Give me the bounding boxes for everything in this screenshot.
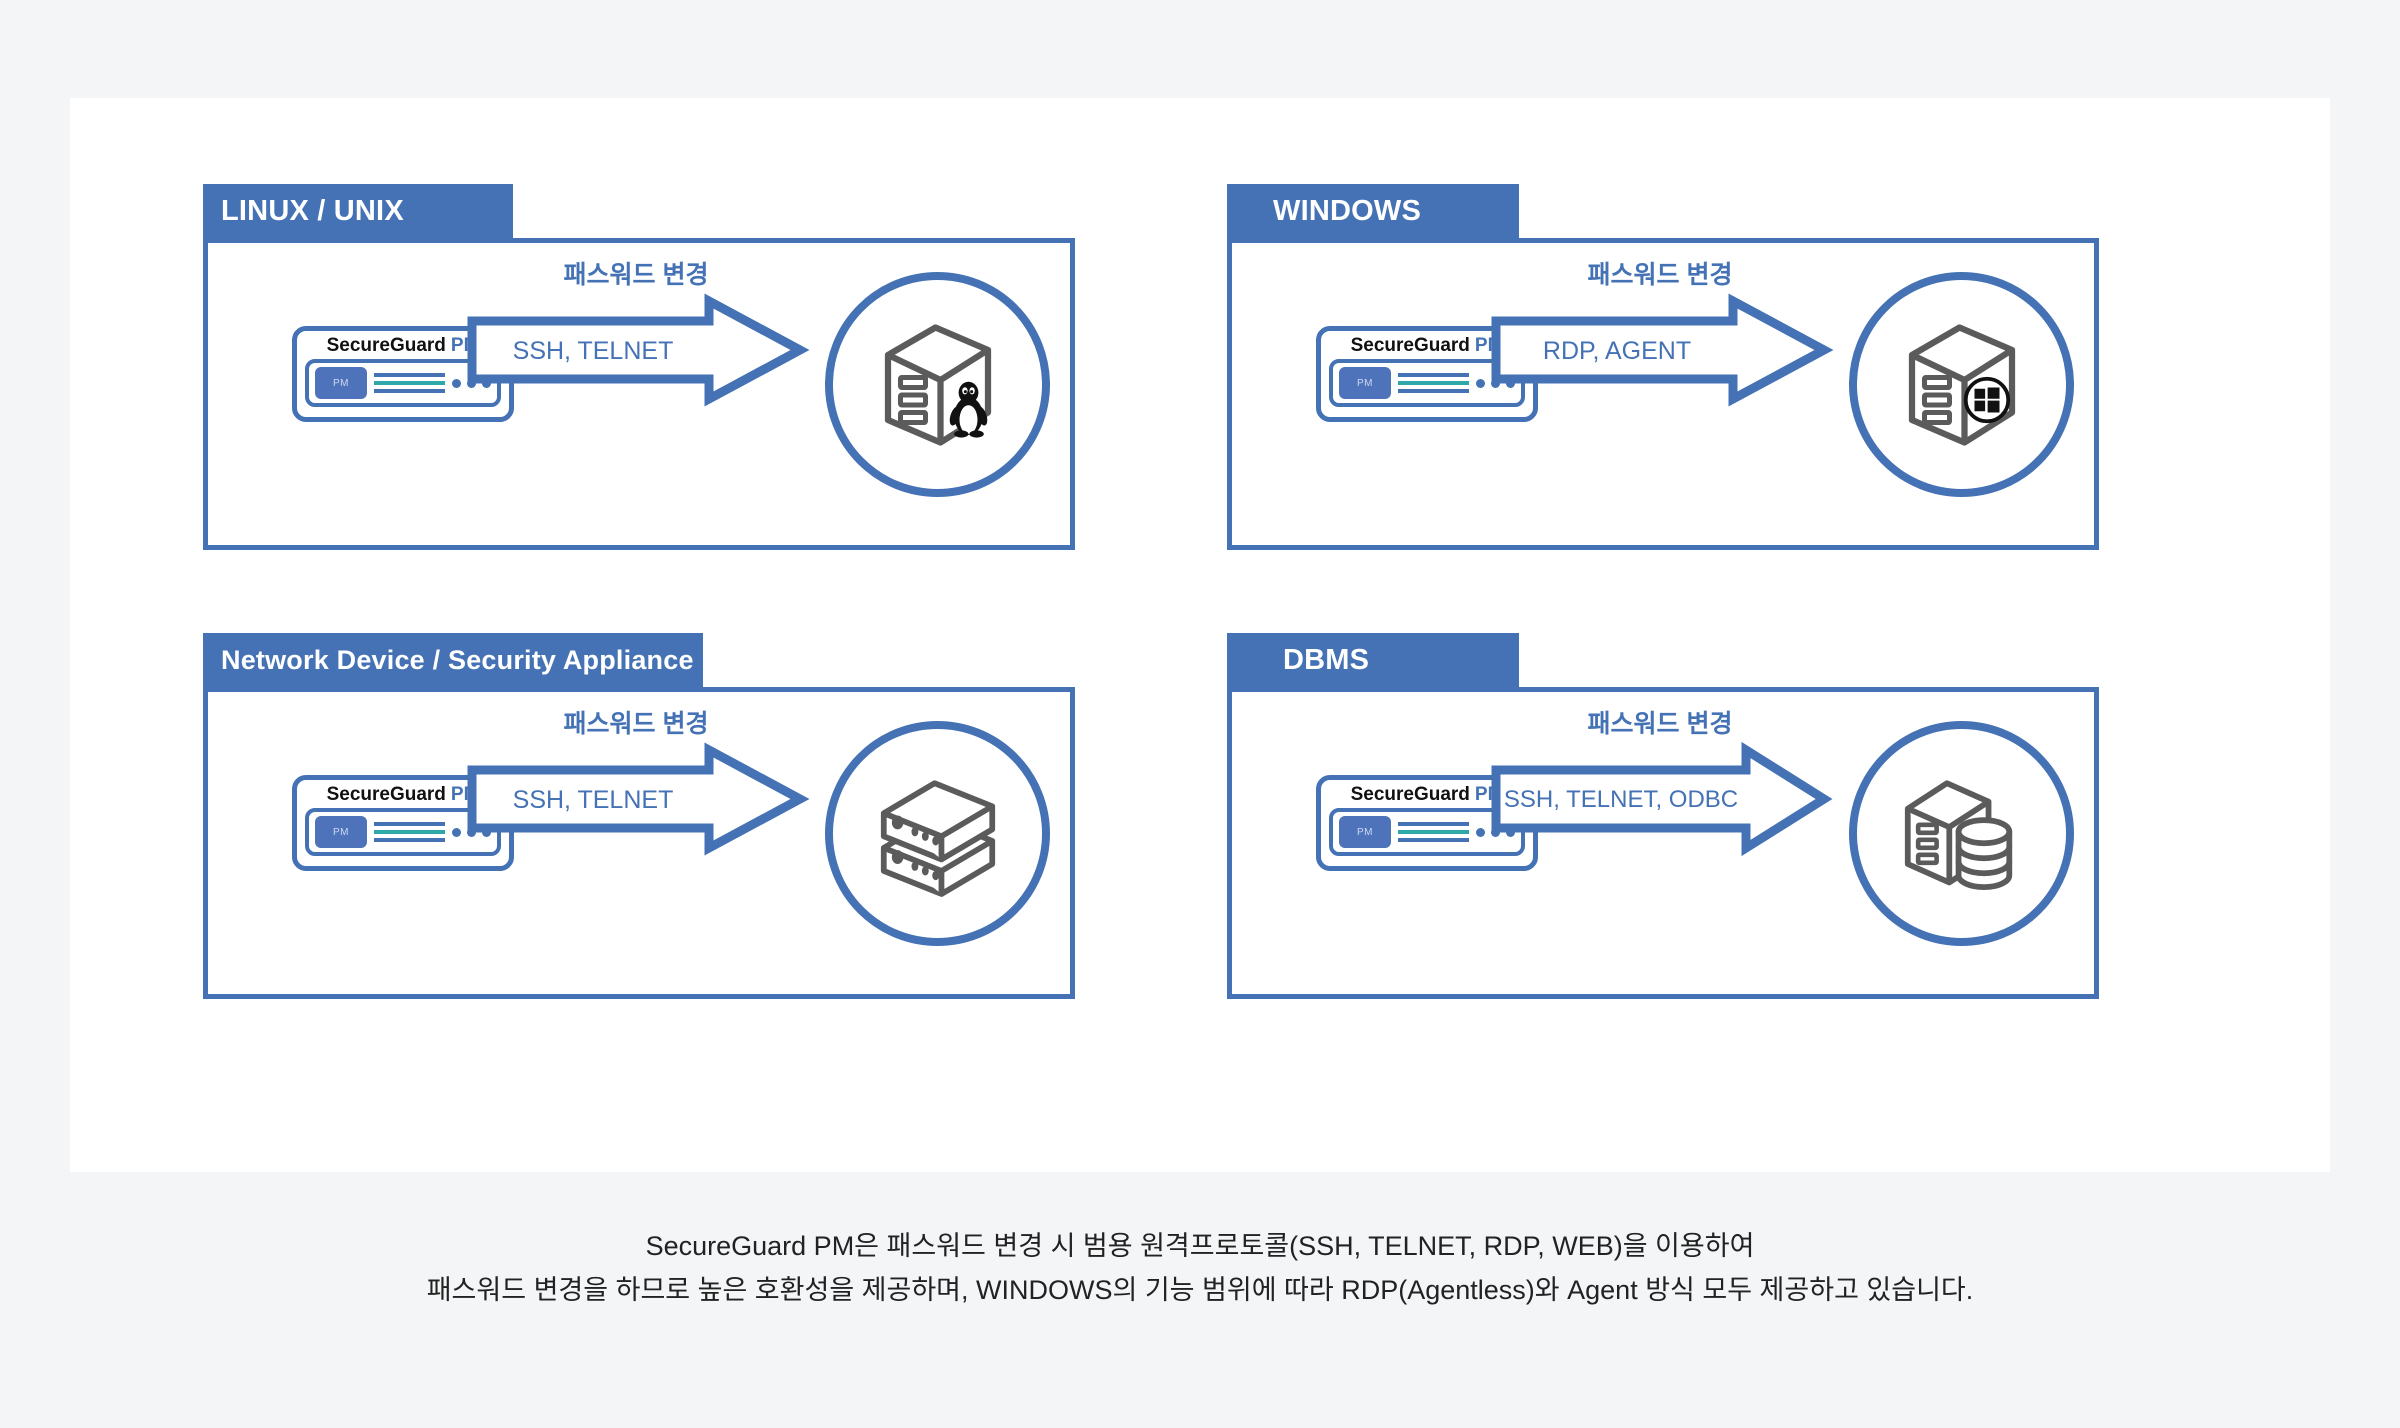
device-status-lines [374, 373, 445, 393]
status-line [1398, 838, 1469, 842]
panel-title: LINUX / UNIX [221, 195, 404, 228]
panel-network-device: Network Device / Security Appliance Secu… [203, 633, 1075, 999]
device-pm-badge: PM [1339, 367, 1391, 399]
database-server-icon [1849, 721, 2074, 946]
panel-windows: WINDOWS SecureGuardPM PM [1227, 184, 2099, 550]
device-brand: SecureGuard [327, 784, 446, 805]
panel-linux-unix: LINUX / UNIX SecureGuardPM PM [203, 184, 1075, 550]
device-brand: SecureGuard [1351, 784, 1470, 805]
device-brand: SecureGuard [327, 335, 446, 356]
device-status-lines [374, 822, 445, 842]
device-pm-badge-label: PM [333, 827, 349, 838]
network-appliance-icon [825, 721, 1050, 946]
device-title: SecureGuardPM [1351, 336, 1504, 355]
device-title: SecureGuardPM [327, 785, 480, 804]
device-pm-badge-label: PM [1357, 827, 1373, 838]
arrow-protocol-label: SSH, TELNET [478, 786, 708, 815]
device-status-lines [1398, 822, 1469, 842]
panel-title: DBMS [1283, 644, 1369, 677]
status-line [374, 389, 445, 393]
caption-line-1: SecureGuard PM은 패스워드 변경 시 범용 원격프로토콜(SSH,… [0, 1225, 2400, 1269]
caption-block: SecureGuard PM은 패스워드 변경 시 범용 원격프로토콜(SSH,… [0, 1225, 2400, 1312]
status-line [374, 838, 445, 842]
arrow-protocol-label: RDP, AGENT [1502, 337, 1732, 366]
status-line [1398, 822, 1469, 826]
windows-server-glyph [1887, 310, 2037, 460]
arrow-top-label: 패스워드 변경 [466, 704, 806, 740]
status-line-active [374, 381, 445, 385]
device-pm-badge: PM [315, 367, 367, 399]
status-line-active [374, 830, 445, 834]
status-line [374, 373, 445, 377]
panel-tab-linux-unix: LINUX / UNIX [203, 184, 513, 238]
panel-tab-dbms: DBMS [1227, 633, 1519, 687]
device-pm-badge: PM [1339, 816, 1391, 848]
status-line-active [1398, 381, 1469, 385]
device-pm-badge-label: PM [333, 378, 349, 389]
panel-tab-network-device: Network Device / Security Appliance [203, 633, 703, 687]
device-pm-badge-label: PM [1357, 378, 1373, 389]
device-title: SecureGuardPM [327, 336, 480, 355]
panel-title: WINDOWS [1273, 195, 1421, 228]
tux-penguin [947, 381, 989, 437]
panel-title: Network Device / Security Appliance [221, 645, 694, 676]
linux-server-icon [825, 272, 1050, 497]
device-brand: SecureGuard [1351, 335, 1470, 356]
flow-arrow-windows: 패스워드 변경 RDP, AGENT [1490, 255, 1830, 405]
status-line [1398, 389, 1469, 393]
arrow-top-label: 패스워드 변경 [1490, 704, 1830, 740]
windows-server-icon [1849, 272, 2074, 497]
arrow-protocol-label: SSH, TELNET [478, 337, 708, 366]
led-dot [1476, 828, 1485, 837]
panel-tab-windows: WINDOWS [1227, 184, 1519, 238]
flow-arrow-linux: 패스워드 변경 SSH, TELNET [466, 255, 806, 405]
led-dot [452, 379, 461, 388]
device-pm-badge: PM [315, 816, 367, 848]
arrow-top-label: 패스워드 변경 [466, 255, 806, 291]
diagram-stage: LINUX / UNIX SecureGuardPM PM [0, 0, 2400, 1428]
device-status-lines [1398, 373, 1469, 393]
led-dot [452, 828, 461, 837]
status-line [374, 822, 445, 826]
led-dot [1476, 379, 1485, 388]
status-line-active [1398, 830, 1469, 834]
database-server-glyph [1887, 759, 2037, 909]
flow-arrow-network: 패스워드 변경 SSH, TELNET [466, 704, 806, 854]
arrow-protocol-label: SSH, TELNET, ODBC [1496, 786, 1746, 814]
flow-arrow-dbms: 패스워드 변경 SSH, TELNET, ODBC [1490, 704, 1830, 854]
windows-logo-icon [1965, 378, 2008, 421]
diagram-card: LINUX / UNIX SecureGuardPM PM [70, 98, 2330, 1172]
panel-dbms: DBMS SecureGuardPM PM [1227, 633, 2099, 999]
network-appliance-glyph [863, 759, 1013, 909]
caption-line-2: 패스워드 변경을 하므로 높은 호환성을 제공하며, WINDOWS의 기능 범… [0, 1269, 2400, 1313]
arrow-top-label: 패스워드 변경 [1490, 255, 1830, 291]
linux-server-glyph [863, 310, 1013, 460]
device-title: SecureGuardPM [1351, 785, 1504, 804]
status-line [1398, 373, 1469, 377]
